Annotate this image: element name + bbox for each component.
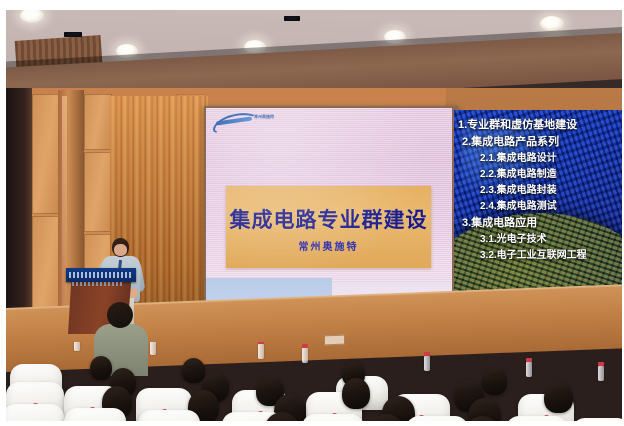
outline-item: 3.集成电路应用 — [462, 218, 622, 229]
outline-item: 1.专业群和虚仿基地建设 — [458, 120, 622, 131]
audience-head — [342, 378, 370, 409]
water-bottle — [258, 344, 264, 359]
audience-chair — [138, 410, 200, 421]
screen-glare — [206, 108, 452, 310]
outline-item: 2.1.集成电路设计 — [480, 154, 622, 164]
outline-item: 2.3.集成电路封装 — [480, 186, 622, 196]
podium-text-line — [72, 282, 122, 286]
audience-head — [90, 356, 112, 380]
projection-screen[interactable]: 常州奥施特 集成电路专业群建设 常州奥施特 — [206, 108, 452, 310]
outline-display-panel[interactable]: 1.专业群和虚仿基地建设 2.集成电路产品系列 2.1.集成电路设计 2.2.集… — [454, 110, 622, 315]
water-bottle — [150, 342, 156, 355]
ceiling-light-icon — [540, 16, 564, 31]
water-bottle — [424, 356, 430, 371]
ceiling-vent — [64, 32, 82, 37]
bottle-cap — [302, 344, 308, 348]
bottle-cap — [526, 358, 532, 362]
wall-pillar-highlight — [62, 96, 67, 336]
audience-head — [482, 368, 507, 395]
page-margin-left — [0, 0, 6, 426]
bottle-cap — [258, 342, 264, 344]
presenter-face — [114, 244, 127, 256]
bottle-cap — [598, 362, 604, 366]
outline-item: 2.2.集成电路制造 — [480, 170, 622, 180]
outline-item: 3.1.光电子技术 — [480, 235, 622, 245]
audience-chair — [302, 414, 364, 421]
audience-head — [544, 382, 573, 413]
outline-list: 1.专业群和虚仿基地建设 2.集成电路产品系列 2.1.集成电路设计 2.2.集… — [454, 120, 622, 267]
outline-item: 3.2.电子工业互联网工程 — [480, 251, 622, 261]
ceiling-vent — [284, 16, 300, 21]
wall-panel — [84, 94, 112, 150]
water-bottle — [526, 362, 532, 377]
water-bottle — [302, 348, 308, 363]
conference-photo: 常州奥施特 集成电路专业群建设 常州奥施特 1.专业群和虚仿基地建设 2.集成电… — [6, 10, 622, 421]
wall-panel — [32, 94, 60, 214]
bottle-cap — [424, 352, 430, 356]
page-margin-bottom — [0, 421, 624, 426]
outline-item: 2.4.集成电路测试 — [480, 202, 622, 212]
podium-text-line — [69, 272, 131, 278]
water-bottle — [74, 342, 80, 351]
outline-item: 2.集成电路产品系列 — [462, 137, 622, 148]
front-person-head — [107, 302, 133, 328]
audience-head — [182, 358, 205, 383]
water-bottle — [598, 366, 604, 381]
page-margin-top — [0, 0, 624, 10]
wall-panel — [84, 152, 112, 232]
left-wall-shadow — [6, 88, 32, 338]
audience-area — [6, 342, 622, 421]
audience-chair — [64, 408, 126, 421]
audience-chair — [6, 404, 64, 421]
